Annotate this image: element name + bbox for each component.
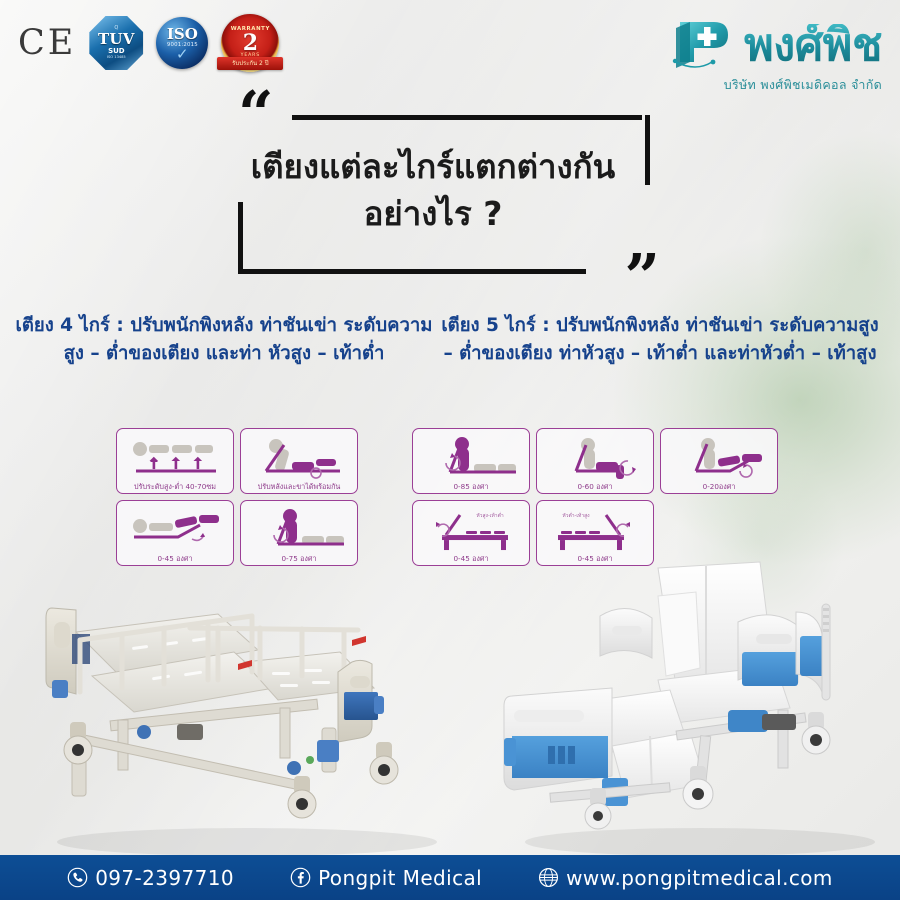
reverse-trendelenburg-mini-label: หัวต่ำ-เท้าสูง — [562, 512, 590, 519]
feature-caption: 0-45 องศา — [120, 555, 230, 563]
logo-company-subtitle: บริษัท พงศ์พิชเมดิคอล จำกัด — [670, 75, 882, 95]
ce-mark-icon: CE — [18, 26, 76, 61]
quote-rule-bottom — [238, 269, 586, 274]
footer-website-url: www.pongpitmedical.com — [566, 866, 833, 890]
feature-card: 0-20องศา — [660, 428, 778, 494]
iso-name: ISO — [167, 27, 198, 42]
feature-card: 0-75 องศา — [240, 500, 358, 566]
phone-icon — [67, 867, 88, 888]
knee-raise-icon — [120, 505, 230, 555]
footer-facebook[interactable]: Pongpit Medical — [290, 866, 482, 890]
feature-caption: ปรับหลังและขาได้พร้อมกัน — [244, 483, 354, 491]
poster-canvas: CE Q TUV SUD ISO 13485 ISO 9001:2015 ✓ W… — [0, 0, 900, 900]
footer-website[interactable]: www.pongpitmedical.com — [538, 866, 833, 890]
feature-card: 0-85 องศา — [412, 428, 530, 494]
back-raise-icon — [244, 505, 354, 555]
bed-4-description: เตียง 4 ไกร์ : ปรับพนักพิงหลัง ท่าชันเข่… — [14, 312, 434, 368]
trendelenburg-mini-label: หัวสูง-เท้าต่ำ — [476, 512, 503, 519]
back-raise-icon — [416, 433, 526, 483]
bed-5-feature-cards: 0-85 องศา 0-60 องศา — [412, 428, 782, 566]
page-title: เตียงแต่ละไกร์แตกต่างกัน อย่างไร ? — [230, 144, 636, 238]
feature-caption: 0-60 องศา — [540, 483, 650, 491]
tuv-name: TUV — [98, 32, 135, 47]
company-logo: พงศ์พิช บริษัท พงศ์พิชเมดิคอล จำกัด — [670, 16, 882, 95]
feature-card: 0-60 องศา — [536, 428, 654, 494]
footer-phone[interactable]: 097-2397710 — [67, 866, 234, 890]
feature-caption: 0-85 องศา — [416, 483, 526, 491]
quote-close-mark: ” — [624, 255, 660, 298]
footer-phone-number: 097-2397710 — [95, 866, 234, 890]
warranty-ribbon-label: รับประกัน 2 ปี — [232, 61, 268, 67]
feature-card: หัวสูง-เท้าต่ำ 0-45 องศ — [412, 500, 530, 566]
feature-card: หัวต่ำ-เท้าสูง 0-45 องศ — [536, 500, 654, 566]
tuv-sud-badge-icon: Q TUV SUD ISO 13485 — [89, 16, 143, 70]
headline-quote-block: “ เตียงแต่ละไกร์แตกต่างกัน อย่างไร ? ” — [230, 92, 650, 292]
warranty-badge-icon: WARRANTY 2 YEARS รับประกัน 2 ปี — [221, 14, 279, 72]
bed-photo-4-function — [22, 580, 452, 860]
iso-badge-icon: ISO 9001:2015 ✓ — [156, 17, 208, 69]
headline-line-1: เตียงแต่ละไกร์แตกต่างกัน — [230, 144, 636, 191]
feature-card: 0-45 องศา — [116, 500, 234, 566]
globe-icon — [538, 867, 559, 888]
feature-card: ปรับระดับสูง-ต่ำ 40-70ซม — [116, 428, 234, 494]
back-leg-together-icon — [244, 433, 354, 483]
feature-caption: 0-75 องศา — [244, 555, 354, 563]
iso-check-icon: ✓ — [176, 49, 189, 60]
trendelenburg-icon: หัวสูง-เท้าต่ำ — [416, 505, 526, 555]
headline-line-2: อย่างไร ? — [230, 191, 636, 238]
certification-badges: CE Q TUV SUD ISO 13485 ISO 9001:2015 ✓ W… — [18, 14, 279, 72]
quote-rule-top-vertical — [645, 115, 650, 185]
quote-open-mark: “ — [238, 92, 274, 135]
height-adjust-icon — [120, 433, 230, 483]
reverse-trendelenburg-icon: หัวต่ำ-เท้าสูง — [540, 505, 650, 555]
feature-caption: 0-45 องศา — [416, 555, 526, 563]
tuv-standard: ISO 13485 — [107, 56, 126, 60]
bed-4-feature-cards: ปรับระดับสูง-ต่ำ 40-70ซม ปรับหลังและขาได… — [116, 428, 366, 566]
quote-rule-bottom-vertical — [238, 202, 243, 274]
warranty-number: 2 — [243, 33, 258, 54]
bed-5-description: เตียง 5 ไกร์ : ปรับพนักพิงหลัง ท่าชันเข่… — [440, 312, 880, 368]
feature-card: ปรับหลังและขาได้พร้อมกัน — [240, 428, 358, 494]
footer-contact-bar: 097-2397710 Pongpit Medical www.pongpitm… — [0, 855, 900, 900]
feature-caption: 0-45 องศา — [540, 555, 650, 563]
quote-rule-top — [292, 115, 642, 120]
bed-photo-5-function — [490, 560, 890, 860]
leg-down-icon — [540, 433, 650, 483]
feature-caption: ปรับระดับสูง-ต่ำ 40-70ซม — [120, 483, 230, 491]
footer-facebook-name: Pongpit Medical — [318, 866, 482, 890]
knee-raise-icon — [664, 433, 774, 483]
warranty-ribbon: รับประกัน 2 ปี — [217, 57, 283, 70]
logo-mark-icon — [670, 16, 740, 74]
facebook-icon — [290, 867, 311, 888]
feature-caption: 0-20องศา — [664, 483, 774, 491]
logo-company-name: พงศ์พิช — [744, 24, 882, 65]
